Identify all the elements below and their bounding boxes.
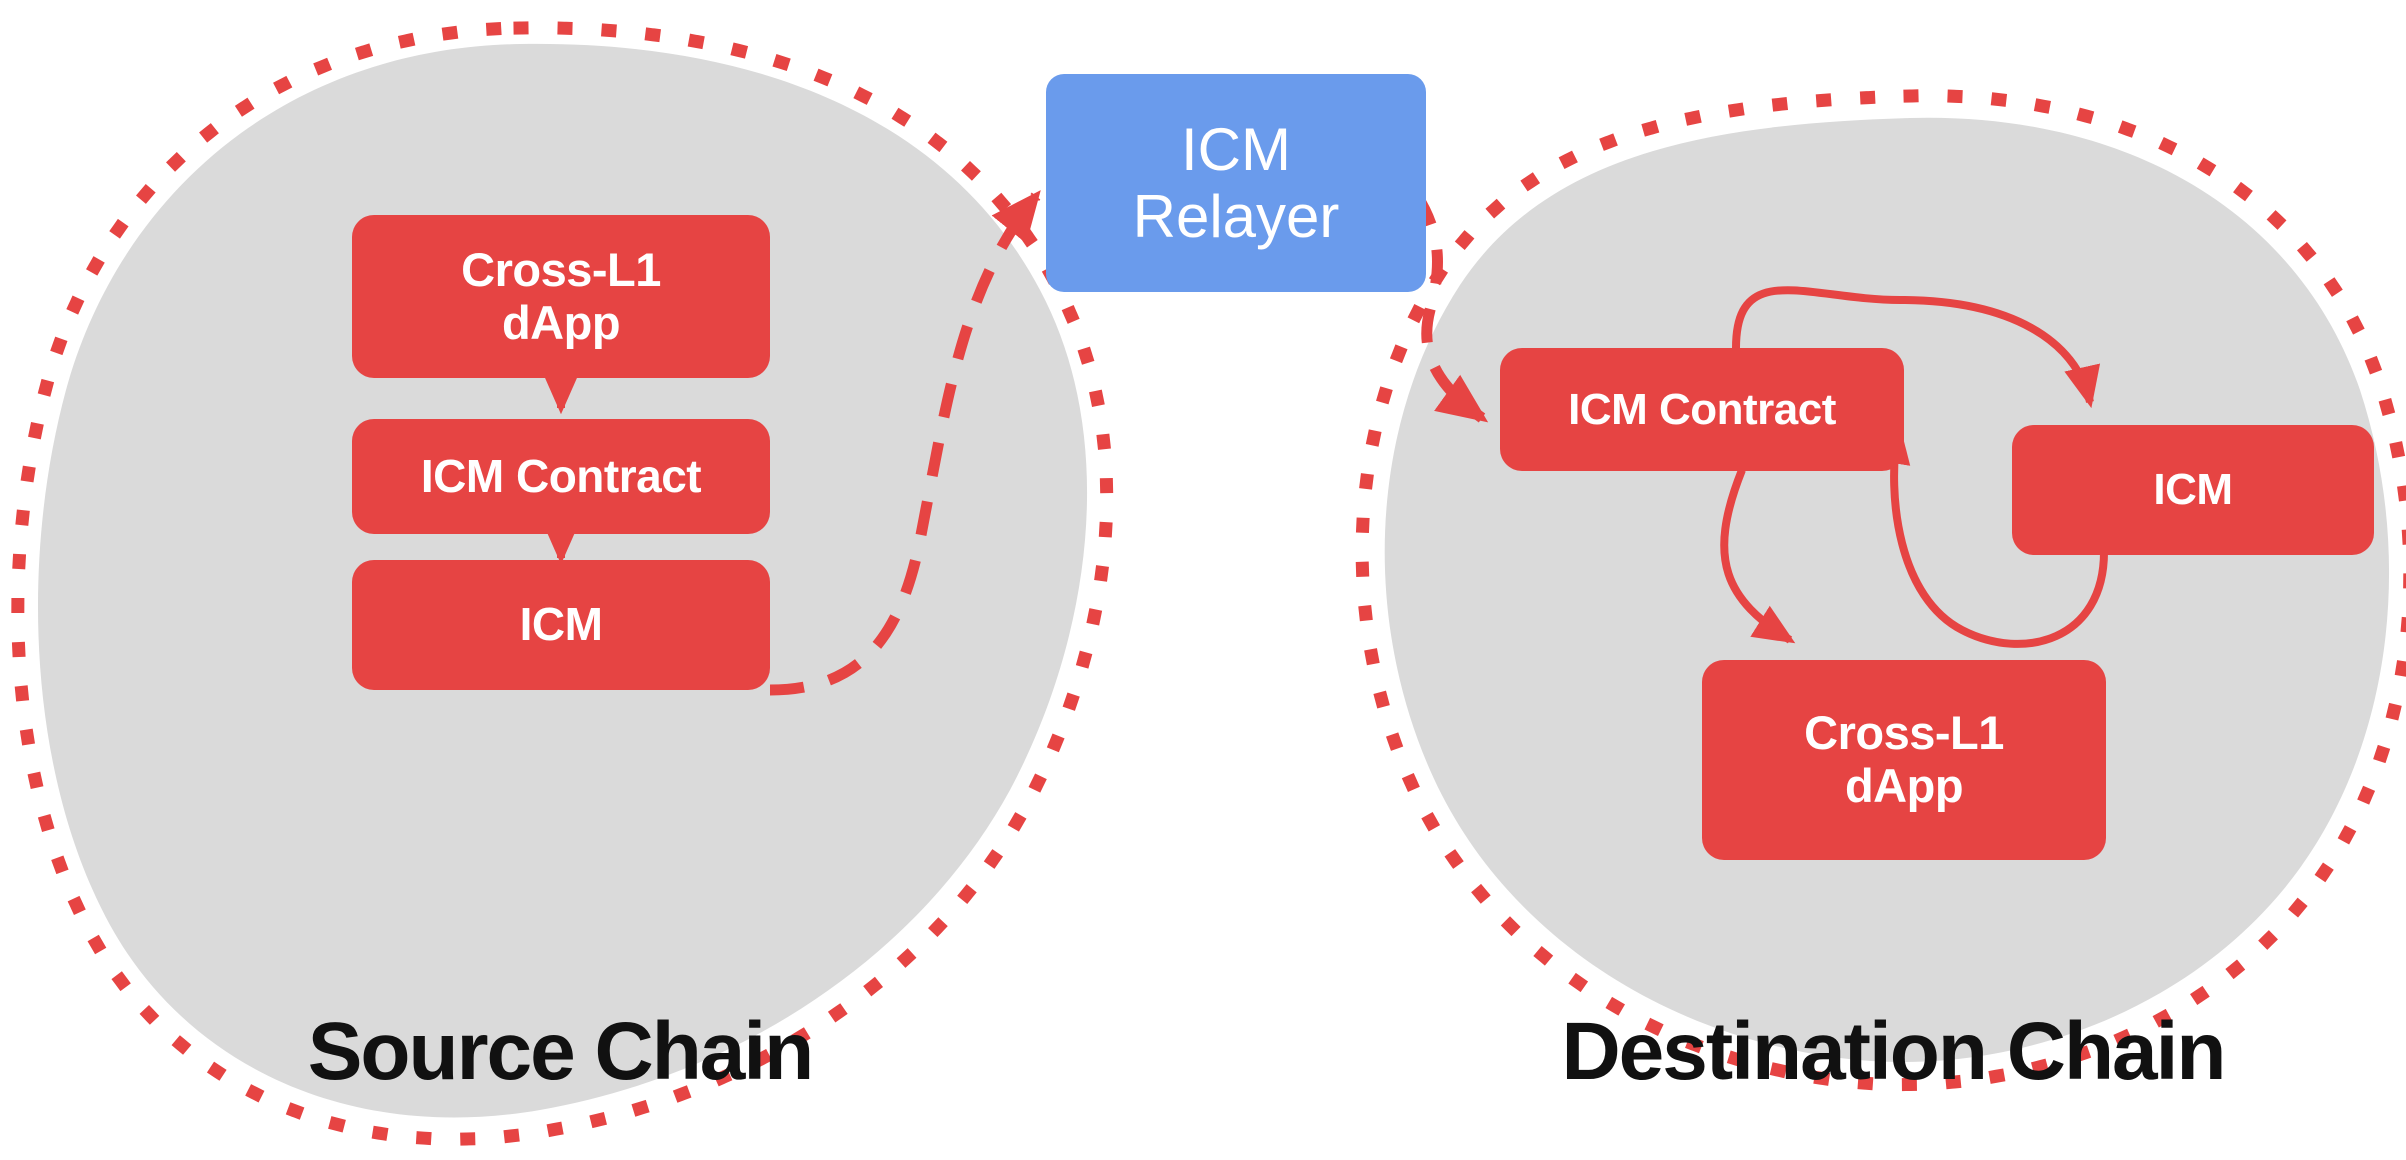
destination-node-cross-l1-dapp[interactable]: Cross-L1 dApp [1702, 660, 2106, 860]
destination-node-icm-contract[interactable]: ICM Contract [1500, 348, 1904, 471]
label-line-2: dApp [1845, 759, 1963, 812]
label-line-1: Cross-L1 [461, 243, 661, 296]
destination-node-icm[interactable]: ICM [2012, 425, 2374, 555]
source-chain-title: Source Chain [0, 1005, 1120, 1099]
destination-chain-blob [1385, 118, 2389, 1062]
source-node-icm-label: ICM [520, 599, 603, 651]
diagram-canvas: Cross-L1 dApp ICM Contract ICM ICM Relay… [0, 0, 2406, 1160]
source-node-cross-l1-dapp-label: Cross-L1 dApp [461, 244, 661, 349]
source-node-icm-contract-label: ICM Contract [421, 451, 701, 503]
icm-relayer-node[interactable]: ICM Relayer [1046, 74, 1426, 292]
source-node-cross-l1-dapp[interactable]: Cross-L1 dApp [352, 215, 770, 378]
destination-node-icm-contract-label: ICM Contract [1568, 385, 1836, 434]
destination-chain-title: Destination Chain [1380, 1005, 2406, 1099]
label-line-2: Relayer [1133, 183, 1340, 250]
destination-node-icm-label: ICM [2153, 465, 2232, 514]
label-line-1: ICM [1181, 116, 1291, 183]
label-line-2: dApp [502, 296, 620, 349]
destination-node-cross-l1-dapp-label: Cross-L1 dApp [1804, 707, 2004, 812]
source-node-icm-contract[interactable]: ICM Contract [352, 419, 770, 534]
icm-relayer-label: ICM Relayer [1133, 116, 1340, 250]
label-line-1: Cross-L1 [1804, 706, 2004, 759]
source-node-icm[interactable]: ICM [352, 560, 770, 690]
